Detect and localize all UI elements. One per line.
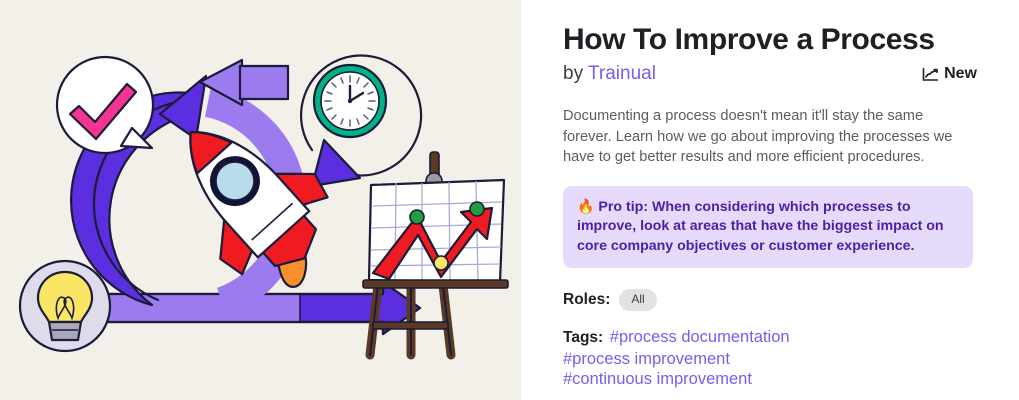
brand-link[interactable]: Trainual — [588, 63, 656, 84]
content-panel: How To Improve a Process by Trainual New… — [521, 0, 1019, 400]
clock — [314, 65, 386, 137]
article-description: Documenting a process doesn't mean it'll… — [563, 106, 973, 168]
roles-row: Roles: All — [563, 289, 979, 311]
article-card: .st { stroke:#1B1B3A; stroke-width:2.2; … — [0, 0, 1019, 400]
speech-bubble-checkmark — [57, 57, 153, 153]
tag-item[interactable]: #process improvement — [563, 350, 730, 368]
title-row: How To Improve a Process — [563, 22, 979, 58]
tags-row: Tags: #process documentation #process im… — [563, 327, 979, 390]
tag-item[interactable]: #process documentation — [610, 328, 790, 346]
byline: by Trainual — [563, 62, 656, 86]
status-badge-label: New — [944, 65, 977, 83]
status-badge: New — [922, 65, 979, 83]
page-title: How To Improve a Process — [563, 22, 979, 58]
byline-prefix: by — [563, 63, 583, 84]
illustration-panel: .st { stroke:#1B1B3A; stroke-width:2.2; … — [0, 0, 521, 400]
pro-tip-callout: 🔥 Pro tip: When considering which proces… — [563, 186, 973, 269]
tags-label: Tags: — [563, 329, 603, 346]
role-chip-all[interactable]: All — [619, 289, 656, 311]
byline-row: by Trainual New — [563, 62, 979, 86]
roles-label: Roles: — [563, 291, 610, 309]
fire-icon: 🔥 — [577, 198, 594, 214]
tag-item[interactable]: #continuous improvement — [563, 370, 752, 388]
process-improvement-illustration: .st { stroke:#1B1B3A; stroke-width:2.2; … — [0, 0, 521, 400]
pro-tip-text: Pro tip: When considering which processe… — [577, 199, 944, 254]
lightbulb-badge — [20, 261, 110, 351]
line-chart-icon — [922, 67, 939, 82]
